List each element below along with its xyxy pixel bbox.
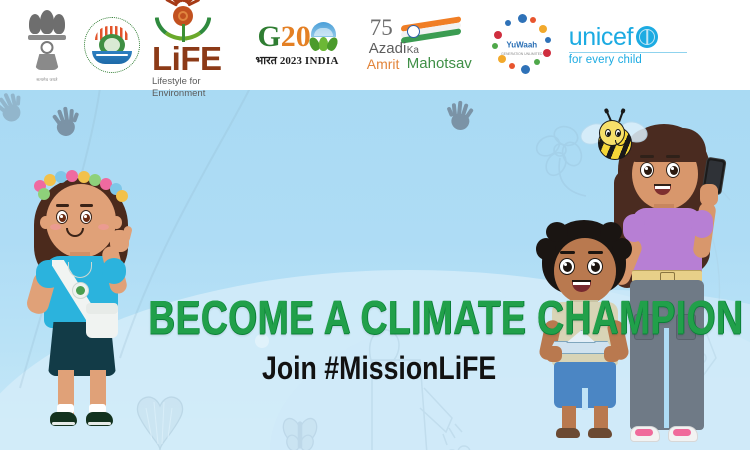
yuwaah-logo: YuWaah GENERATION UNLIMITED: [491, 14, 553, 76]
g20-lotus-icon: [310, 22, 337, 52]
azadi-word-mahotsav: Mahotsav: [407, 55, 472, 72]
g20-year: 2023: [280, 55, 302, 67]
character-girl-with-flower-crown: [18, 164, 150, 444]
azadi-number-75: 75: [370, 15, 393, 41]
handprint-icon: [447, 99, 476, 132]
badge-icon: [72, 282, 89, 299]
partner-logo-strip: सत्यमेव जयते: [0, 0, 750, 90]
g20-hindi-bharat: भारत: [256, 53, 277, 68]
handprint-icon: [50, 104, 80, 137]
life-title: LiFE: [152, 44, 222, 74]
moefcc-emblem-icon: [84, 17, 140, 73]
cartoon-bee-icon: [590, 116, 646, 170]
yuwaah-title: YuWaah: [506, 41, 537, 50]
unicef-divider: [569, 52, 687, 53]
life-subtitle-line1: Lifestyle for: [152, 77, 222, 88]
azadi-ka-amrit-mahotsav-logo: 75 Azadi Ka Amrit Mahotsav: [367, 14, 463, 76]
flower-crown-icon: [32, 170, 130, 196]
unicef-logo: unicef for every child: [569, 25, 687, 66]
emblem-motto: सत्यमेव जयते: [36, 77, 57, 83]
banner-artwork-stage: BECOME A CLIMATE CHAMPION Join #MissionL…: [0, 88, 750, 450]
climate-champion-banner: सत्यमेव जयते: [0, 0, 750, 450]
g20-logo: G 20 भारत 2023 INDIA: [256, 22, 339, 68]
banner-subline: Join #MissionLiFE: [262, 351, 496, 388]
unicef-wordmark: unicef: [569, 25, 633, 50]
unicef-globe-icon: [636, 26, 658, 48]
g20-letter-g: G: [257, 22, 280, 52]
azadi-word-azadi: Azadi: [369, 40, 407, 57]
azadi-word-amrit: Amrit: [367, 56, 400, 72]
indian-tricolour-icon: [401, 20, 461, 42]
national-emblem-icon: सत्यमेव जयते: [24, 8, 70, 82]
g20-number-20: 20: [281, 22, 311, 52]
life-sun-leaf-icon: [155, 0, 211, 44]
life-subtitle-line2: Environment: [152, 89, 222, 100]
banner-headline: BECOME A CLIMATE CHAMPION: [148, 292, 743, 345]
life-logo: LiFE Lifestyle for Environment: [152, 0, 222, 100]
g20-india: INDIA: [305, 55, 339, 67]
unicef-tagline: for every child: [569, 54, 642, 66]
yuwaah-subtitle: GENERATION UNLIMITED: [501, 52, 542, 56]
